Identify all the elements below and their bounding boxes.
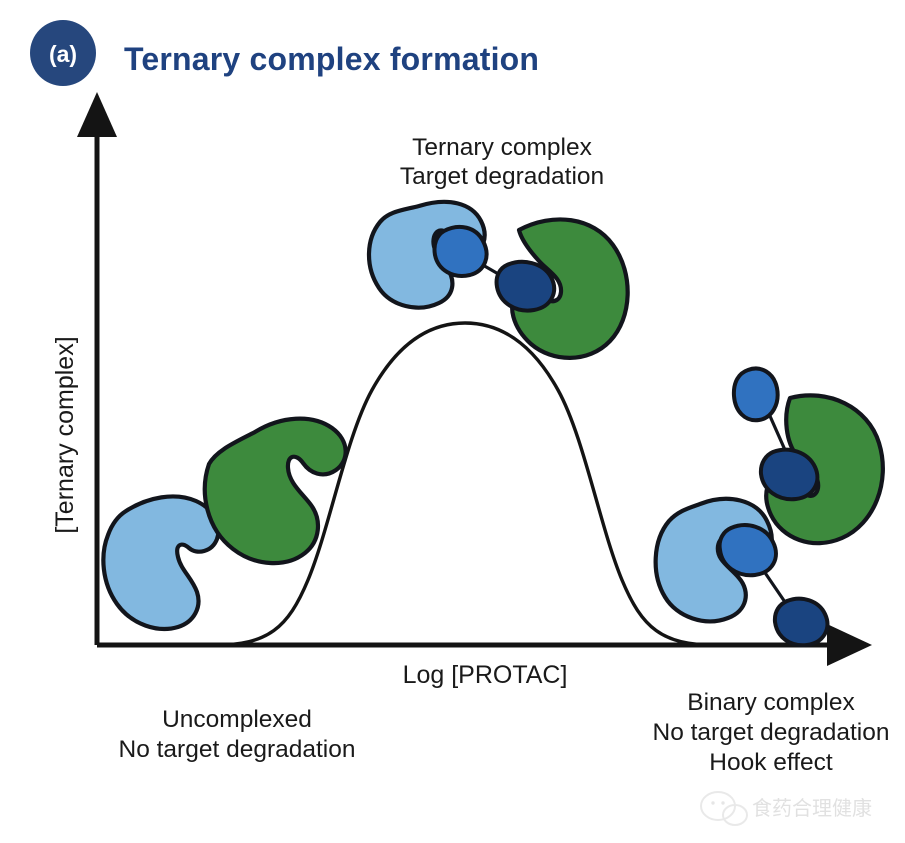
y-axis-arrow-icon (77, 92, 117, 137)
figure-panel-a: (a) Ternary complex formation [Ternary c… (0, 0, 905, 843)
annotation-top-line1: Ternary complex (412, 134, 592, 161)
figure-canvas: (a) Ternary complex formation [Ternary c… (0, 0, 905, 843)
binary-e3-protac-warhead (734, 369, 778, 421)
annotation-bottom-left: Uncomplexed No target degradation (119, 706, 356, 763)
wechat-logo-eye-left (711, 801, 714, 804)
ternary-protac-warhead (434, 227, 486, 276)
ternary-protac-ligand (497, 262, 555, 311)
watermark-label: 食药合理健康 (752, 797, 872, 820)
annotation-bottom-right-line1: Binary complex (687, 689, 854, 716)
annotation-bottom-left-line1: Uncomplexed (162, 706, 312, 733)
panel-badge-label: (a) (49, 41, 77, 67)
uncomplexed-e3-ligase (205, 419, 346, 563)
annotation-top-line2: Target degradation (400, 163, 604, 190)
watermark: 食药合理健康 (701, 792, 872, 825)
e3-ligase-blob (205, 419, 346, 563)
wechat-logo-eye-right (721, 801, 724, 804)
x-axis-arrow-icon (827, 624, 872, 666)
annotation-bottom-left-line2: No target degradation (119, 736, 356, 763)
annotation-bottom-right: Binary complex No target degradation Hoo… (653, 689, 890, 776)
annotation-top: Ternary complex Target degradation (400, 134, 604, 190)
binary-target-protac-warhead (720, 525, 776, 575)
figure-title: Ternary complex formation (124, 41, 539, 77)
binary-e3-protac-ligand (761, 450, 817, 500)
annotation-bottom-right-line2: No target degradation (653, 719, 890, 746)
uncomplexed-target-protein (103, 496, 218, 628)
y-axis-label: [Ternary complex] (51, 336, 79, 533)
panel-badge: (a) (30, 20, 96, 86)
target-protein-blob (103, 496, 218, 628)
x-axis-label: Log [PROTAC] (403, 661, 568, 689)
annotation-bottom-right-line3: Hook effect (709, 749, 833, 776)
ternary-complex-assembly (369, 202, 628, 358)
wechat-logo-icon (701, 792, 747, 825)
binary-target-protac-ligand (775, 599, 828, 646)
